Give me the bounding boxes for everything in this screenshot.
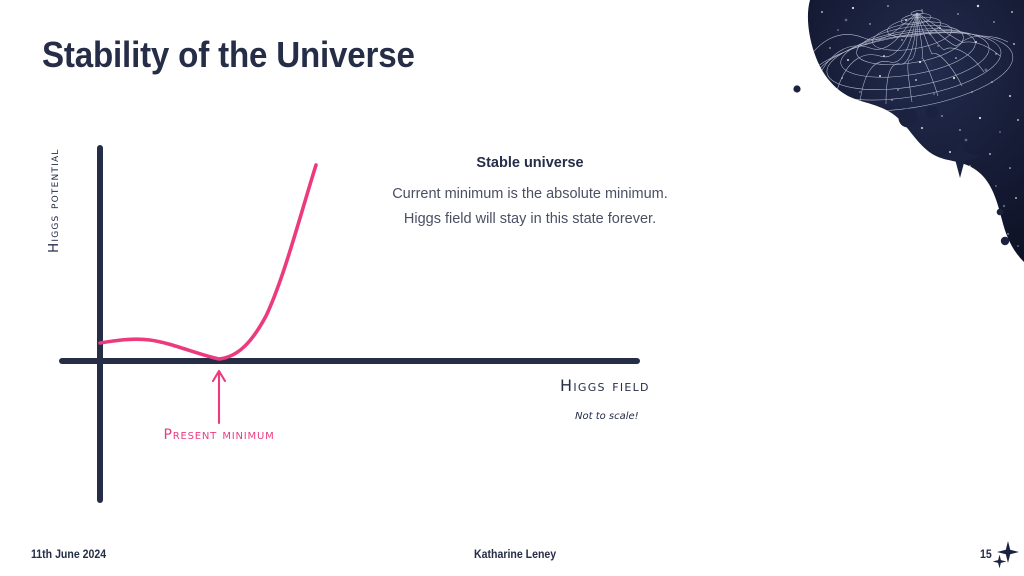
not-to-scale-note: Not to scale! [575,411,639,422]
footer-date: 11th June 2024 [31,547,106,561]
slide: Stability of the Universe [0,0,1024,576]
four-point-star-icon [939,135,981,178]
plot-svg [0,0,700,520]
caption-block: Stable universe Current minimum is the a… [330,155,730,232]
potential-curve [100,165,316,359]
higgs-potential-plot: Higgs potential Higgs field Not to scale… [0,0,700,520]
present-minimum-label: Present minimum [139,427,299,443]
mexican-hat-potential-wireframe [798,10,1019,124]
caption-line-2: Higgs field will stay in this state fore… [330,207,730,232]
footer-author: Katharine Leney [474,547,556,561]
starfield-blob-decoration [780,0,1024,262]
y-axis-label: Higgs potential [46,73,62,253]
present-minimum-arrow [213,371,225,423]
decorative-dots [793,85,1009,245]
caption-heading: Stable universe [330,155,730,171]
starfield-blob-svg [780,0,1024,262]
footer-page-number: 15 [980,547,992,561]
caption-line-1: Current minimum is the absolute minimum. [330,182,730,207]
starfield-region [780,0,1024,262]
x-axis-label: Higgs field [560,376,650,395]
four-point-star-icon [992,554,1007,569]
